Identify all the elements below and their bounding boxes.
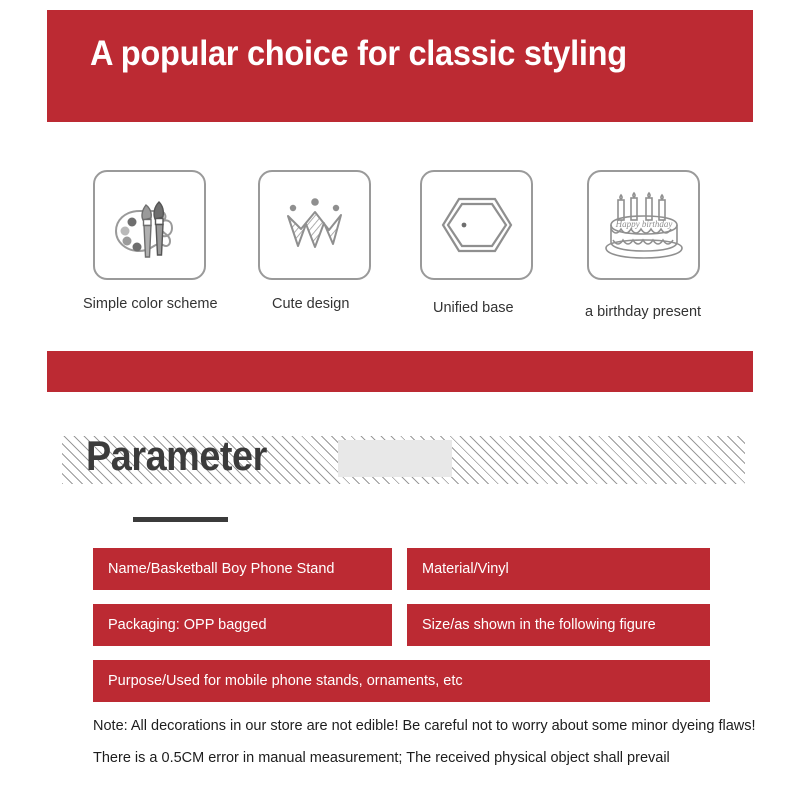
table-row: Packaging: OPP bagged Size/as shown in t… bbox=[0, 604, 800, 646]
parameter-rows: Name/Basketball Boy Phone Stand Material… bbox=[0, 548, 800, 716]
cake-greeting-text: Happy birthday bbox=[614, 219, 672, 229]
hero-banner: A popular choice for classic styling bbox=[47, 10, 753, 122]
feature-label: Simple color scheme bbox=[83, 296, 218, 312]
feature-label: Cute design bbox=[272, 296, 371, 312]
parameter-cell-name: Name/Basketball Boy Phone Stand bbox=[93, 548, 392, 590]
paint-palette-icon bbox=[110, 185, 190, 265]
feature-strip: Simple color scheme Cute design bbox=[0, 170, 800, 330]
feature-label: a birthday present bbox=[585, 304, 701, 320]
parameter-underline-bar bbox=[133, 517, 228, 522]
table-row: Name/Basketball Boy Phone Stand Material… bbox=[0, 548, 800, 590]
parameter-grey-block bbox=[338, 440, 452, 477]
table-row: Purpose/Used for mobile phone stands, or… bbox=[0, 660, 800, 702]
feature-item-simple-color-scheme: Simple color scheme bbox=[93, 170, 218, 312]
notes-block: Note: All decorations in our store are n… bbox=[93, 718, 783, 782]
feature-item-cute-design: Cute design bbox=[258, 170, 371, 312]
parameter-heading: Parameter bbox=[86, 432, 267, 480]
hexagon-base-icon bbox=[437, 185, 517, 265]
note-line-1: Note: All decorations in our store are n… bbox=[93, 718, 783, 734]
feature-icon-box bbox=[93, 170, 206, 280]
feature-icon-box bbox=[258, 170, 371, 280]
note-line-2: There is a 0.5CM error in manual measure… bbox=[93, 750, 783, 766]
red-divider-band bbox=[47, 351, 753, 392]
parameter-cell-material: Material/Vinyl bbox=[407, 548, 710, 590]
feature-label: Unified base bbox=[433, 300, 533, 316]
parameter-cell-size: Size/as shown in the following figure bbox=[407, 604, 710, 646]
feature-item-birthday-present: Happy birthday a birthday present bbox=[587, 170, 701, 320]
feature-icon-box: Happy birthday bbox=[587, 170, 700, 280]
hero-title: A popular choice for classic styling bbox=[90, 34, 627, 74]
feature-item-unified-base: Unified base bbox=[420, 170, 533, 316]
parameter-cell-packaging: Packaging: OPP bagged bbox=[93, 604, 392, 646]
crown-icon bbox=[275, 185, 355, 265]
paint-brush-icon bbox=[154, 202, 163, 255]
birthday-cake-icon: Happy birthday bbox=[601, 182, 687, 268]
feature-icon-box bbox=[420, 170, 533, 280]
paint-brush-icon bbox=[142, 205, 151, 257]
parameter-cell-purpose: Purpose/Used for mobile phone stands, or… bbox=[93, 660, 710, 702]
